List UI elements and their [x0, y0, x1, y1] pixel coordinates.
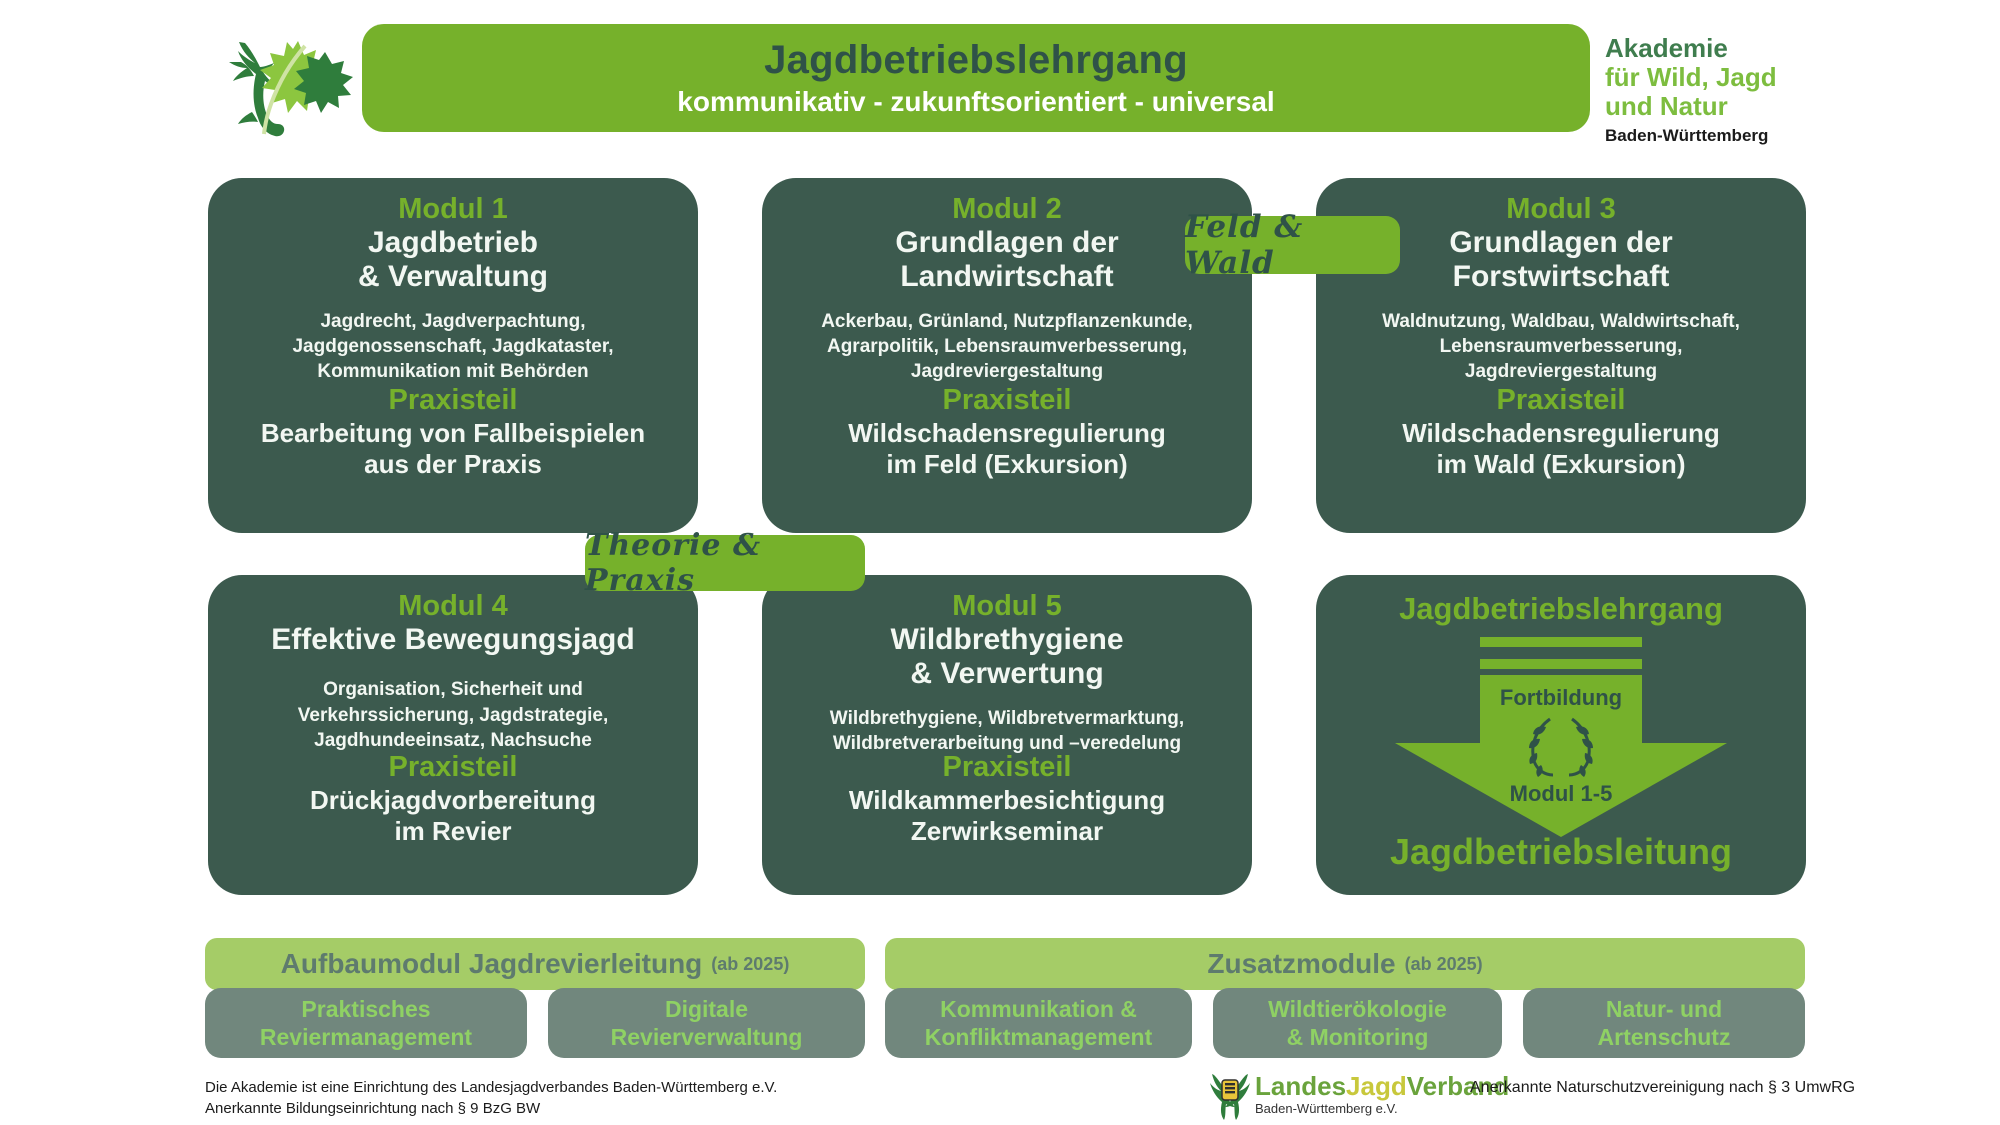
module-4-desc-line2: Verkehrssicherung, Jagdstrategie, [224, 703, 682, 728]
module-card-5[interactable]: Modul 5 Wildbrethygiene & Verwertung Wil… [762, 575, 1252, 895]
module-3-title-line2: Forstwirtschaft [1332, 260, 1790, 294]
footer-left-line-1: Die Akademie ist eine Einrichtung des La… [205, 1077, 777, 1098]
module-4-praxis-label: Praxisteil [224, 750, 682, 785]
module-2-desc-line3: Jagdreviergestaltung [778, 359, 1236, 384]
band-zusatzmodule-title: Zusatzmodule [1207, 948, 1395, 980]
module-3-desc-line2: Lebensraumverbesserung, [1332, 334, 1790, 359]
band-aufbaumodul[interactable]: Aufbaumodul Jagdrevierleitung (ab 2025) [205, 938, 865, 990]
ljv-subtitle: Baden-Württemberg e.V. [1255, 1102, 1509, 1116]
pill-1-line1: Digitale [611, 995, 803, 1023]
header: Jagdbetriebslehrgang kommunikativ - zuku… [0, 0, 2000, 160]
module-3-title-line1: Grundlagen der [1332, 226, 1790, 260]
module-2-praxis-line2: im Feld (Exkursion) [778, 449, 1236, 480]
pill-kommunikation-konfliktmanagement[interactable]: Kommunikation & Konfliktmanagement [885, 988, 1192, 1058]
outcome-top-label: Jagdbetriebslehrgang [1316, 591, 1806, 627]
module-3-number: Modul 3 [1332, 192, 1790, 226]
pill-4-line2: Artenschutz [1598, 1023, 1731, 1051]
module-1-desc-line1: Jagdrecht, Jagdverpachtung, [224, 309, 682, 334]
pill-0-line1: Praktisches [260, 995, 472, 1023]
module-5-praxis-line1: Wildkammerbesichtigung [778, 785, 1236, 816]
module-1-praxis-label: Praxisteil [224, 383, 682, 418]
pill-4-line1: Natur- und [1598, 995, 1731, 1023]
pill-2-line2: Konfliktmanagement [925, 1023, 1152, 1051]
arrow-bar-lower [1480, 659, 1642, 669]
module-3-praxis-line1: Wildschadensregulierung [1332, 418, 1790, 449]
pill-digitale-revierverwaltung[interactable]: Digitale Revierverwaltung [548, 988, 865, 1058]
module-2-desc-line2: Agrarpolitik, Lebensraumverbesserung, [778, 334, 1236, 359]
module-2-praxis-line1: Wildschadensregulierung [778, 418, 1236, 449]
module-1-desc-line2: Jagdgenossenschaft, Jagdkataster, [224, 334, 682, 359]
module-card-4[interactable]: Modul 4 Effektive Bewegungsjagd Organisa… [208, 575, 698, 895]
pill-wildtieroekologie-monitoring[interactable]: Wildtierökologie & Monitoring [1213, 988, 1502, 1058]
footer-right-note: Anerkannte Naturschutzvereinigung nach §… [1470, 1079, 1855, 1097]
footer-left-text: Die Akademie ist eine Einrichtung des La… [205, 1077, 777, 1120]
module-2-title-line1: Grundlagen der [778, 226, 1236, 260]
fortbildung-arrow-graphic: Fortbildung Modul 1-5 [1316, 637, 1806, 837]
module-4-desc-line1: Organisation, Sicherheit und [224, 677, 682, 702]
band-zusatzmodule-year: (ab 2025) [1405, 954, 1483, 975]
module-1-praxis-line2: aus der Praxis [224, 449, 682, 480]
akademie-wordmark: Akademie für Wild, Jagd und Natur Baden-… [1605, 34, 1935, 145]
pill-0-line2: Reviermanagement [260, 1023, 472, 1051]
band-zusatzmodule[interactable]: Zusatzmodule (ab 2025) [885, 938, 1805, 990]
module-5-title-line1: Wildbrethygiene [778, 623, 1236, 657]
page-subtitle: kommunikativ - zukunftsorientiert - univ… [677, 87, 1274, 116]
module-2-praxis-label: Praxisteil [778, 383, 1236, 418]
module-5-praxis-label: Praxisteil [778, 750, 1236, 785]
module-2-desc-line1: Ackerbau, Grünland, Nutzpflanzenkunde, [778, 309, 1236, 334]
module-4-title-line1: Effektive Bewegungsjagd [224, 623, 682, 657]
band-aufbaumodul-title: Aufbaumodul Jagdrevierleitung [281, 948, 703, 980]
module-4-praxis-line1: Drückjagdvorbereitung [224, 785, 682, 816]
header-banner: Jagdbetriebslehrgang kommunikativ - zuku… [362, 24, 1590, 132]
akademie-line-3: und Natur [1605, 92, 1935, 121]
pill-natur-und-artenschutz[interactable]: Natur- und Artenschutz [1523, 988, 1805, 1058]
module-4-praxis-line2: im Revier [224, 816, 682, 847]
footer-left-line-2: Anerkannte Bildungseinrichtung nach § 9 … [205, 1098, 777, 1119]
laurel-wreath-icon [1506, 715, 1616, 777]
outcome-panel[interactable]: Jagdbetriebslehrgang Fortbildung [1316, 575, 1806, 895]
akademie-line-1: Akademie [1605, 34, 1935, 63]
pill-1-line2: Revierverwaltung [611, 1023, 803, 1051]
landesjagdverband-antler-crest-icon [1200, 1068, 1260, 1120]
module-2-title-line2: Landwirtschaft [778, 260, 1236, 294]
module-3-praxis-line2: im Wald (Exkursion) [1332, 449, 1790, 480]
module-5-title-line2: & Verwertung [778, 657, 1236, 691]
module-3-desc-line1: Waldnutzung, Waldbau, Waldwirtschaft, [1332, 309, 1790, 334]
akademie-line-4: Baden-Württemberg [1605, 126, 1935, 145]
module-3-praxis-label: Praxisteil [1332, 383, 1790, 418]
pill-3-line1: Wildtierökologie [1268, 995, 1447, 1023]
pill-praktisches-reviermanagement[interactable]: Praktisches Reviermanagement [205, 988, 527, 1058]
outcome-bottom-label: Jagdbetriebsleitung [1316, 831, 1806, 873]
pill-2-line1: Kommunikation & [925, 995, 1152, 1023]
band-aufbaumodul-year: (ab 2025) [711, 954, 789, 975]
module-2-number: Modul 2 [778, 192, 1236, 226]
page-title: Jagdbetriebslehrgang [764, 39, 1188, 81]
infographic-page: Jagdbetriebslehrgang kommunikativ - zuku… [0, 0, 2000, 1125]
module-1-title-line1: Jagdbetrieb [224, 226, 682, 260]
module-card-2[interactable]: Modul 2 Grundlagen der Landwirtschaft Ac… [762, 178, 1252, 533]
badge-theorie-und-praxis: Theorie & Praxis [585, 535, 865, 591]
module-3-desc-line3: Jagdreviergestaltung [1332, 359, 1790, 384]
pill-3-line2: & Monitoring [1268, 1023, 1447, 1051]
module-1-number: Modul 1 [224, 192, 682, 226]
badge-feld-und-wald: Feld & Wald [1185, 216, 1400, 274]
module-5-praxis-line2: Zerwirkseminar [778, 816, 1236, 847]
ljv-name-part-a: Landes [1255, 1071, 1346, 1101]
module-1-title-line2: & Verwaltung [224, 260, 682, 294]
akademie-line-2: für Wild, Jagd [1605, 63, 1935, 92]
arrow-bar-upper [1480, 637, 1642, 647]
module-5-desc-line1: Wildbrethygiene, Wildbretvermarktung, [778, 706, 1236, 731]
arrow-bottom-label: Modul 1-5 [1316, 781, 1806, 807]
akademie-antler-leaf-logo-icon [205, 18, 355, 143]
module-1-desc-line3: Kommunikation mit Behörden [224, 359, 682, 384]
module-card-1[interactable]: Modul 1 Jagdbetrieb & Verwaltung Jagdrec… [208, 178, 698, 533]
module-1-praxis-line1: Bearbeitung von Fallbeispielen [224, 418, 682, 449]
ljv-name-part-b: Jagd [1346, 1071, 1407, 1101]
arrow-top-label: Fortbildung [1316, 685, 1806, 711]
